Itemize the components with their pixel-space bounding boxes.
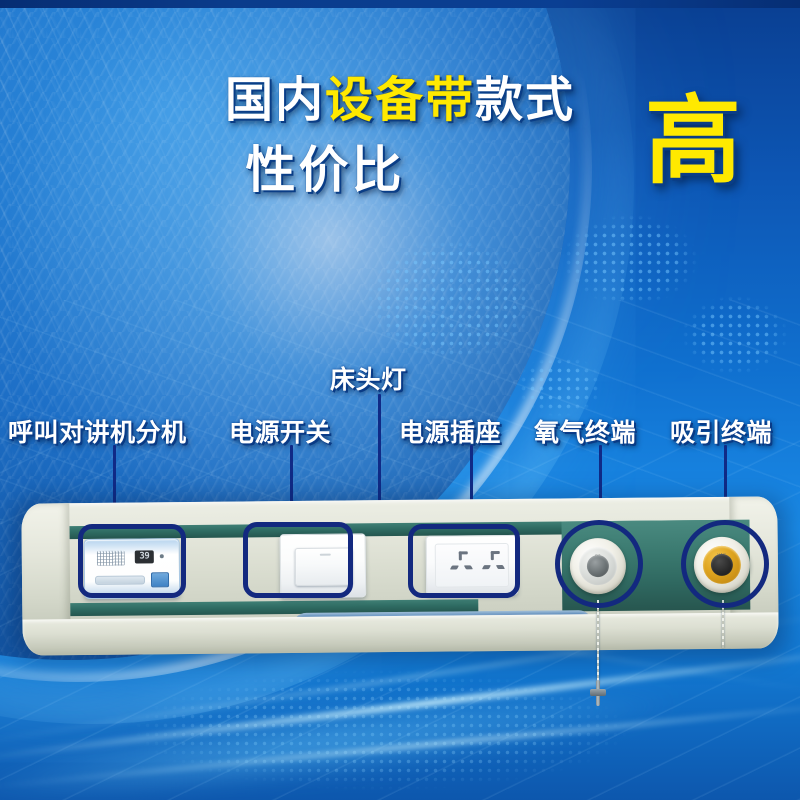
callout-power-socket: 电源插座: [399, 413, 501, 449]
socket-pin: [450, 565, 459, 569]
status-led-icon: [160, 554, 164, 558]
socket-face: [435, 543, 509, 588]
headline-block: 国内设备带款式 性价比高: [0, 76, 800, 197]
intercom-unit[interactable]: 39: [84, 538, 181, 599]
headline-text-line2: 性价比: [246, 144, 405, 197]
product-banner: 国内设备带款式 性价比高 呼叫对讲机分机 电源开关 床头灯 电源插座 氧气终端 …: [0, 0, 800, 800]
cord-fitting-cross: [590, 689, 606, 696]
power-switch-unit[interactable]: [280, 533, 367, 598]
socket-pin: [491, 551, 500, 554]
panel-bottom-rail: [22, 612, 778, 655]
oxygen-terminal-port: [587, 555, 609, 577]
socket-pin: [459, 551, 468, 554]
rocker-mark: [320, 554, 331, 556]
callout-oxygen-terminal: 氧气终端: [534, 413, 636, 449]
socket-pin: [464, 565, 473, 569]
cord-fitting-icon: [590, 680, 606, 706]
intercom-display: 39: [135, 550, 154, 563]
top-band: [0, 0, 800, 8]
headline-line-2: 性价比高: [0, 144, 800, 197]
speaker-grille-icon: [97, 551, 125, 566]
panel-body: 39: [21, 496, 778, 655]
suction-terminal-unit[interactable]: VAC: [694, 537, 751, 594]
intercom-slot: [95, 575, 145, 584]
headline-text-part3: 款式: [475, 74, 575, 127]
headline-text-part2: 设备带: [325, 74, 475, 127]
headline-text-part1: 国内: [225, 74, 325, 127]
universal-socket-icon: [480, 551, 510, 577]
callout-bedside-lamp: 床头灯: [330, 360, 407, 396]
suction-hose-cord: [722, 600, 724, 648]
callout-power-switch: 电源开关: [229, 413, 331, 449]
oxygen-hose-cord: [597, 600, 599, 685]
bed-head-panel: 39: [21, 496, 778, 655]
rocker-switch-icon[interactable]: [295, 547, 353, 586]
universal-socket-icon: [448, 551, 478, 577]
socket-pin: [482, 565, 491, 569]
headline-text-highlight: 高: [645, 92, 744, 193]
oxygen-terminal-unit[interactable]: O2: [570, 538, 627, 595]
suction-terminal-port: [711, 554, 733, 576]
callout-suction-terminal: 吸引终端: [670, 413, 772, 449]
callout-intercom: 呼叫对讲机分机: [8, 413, 187, 449]
socket-pin: [496, 565, 505, 569]
power-socket-unit[interactable]: [426, 535, 519, 596]
call-button-icon[interactable]: [151, 572, 169, 587]
